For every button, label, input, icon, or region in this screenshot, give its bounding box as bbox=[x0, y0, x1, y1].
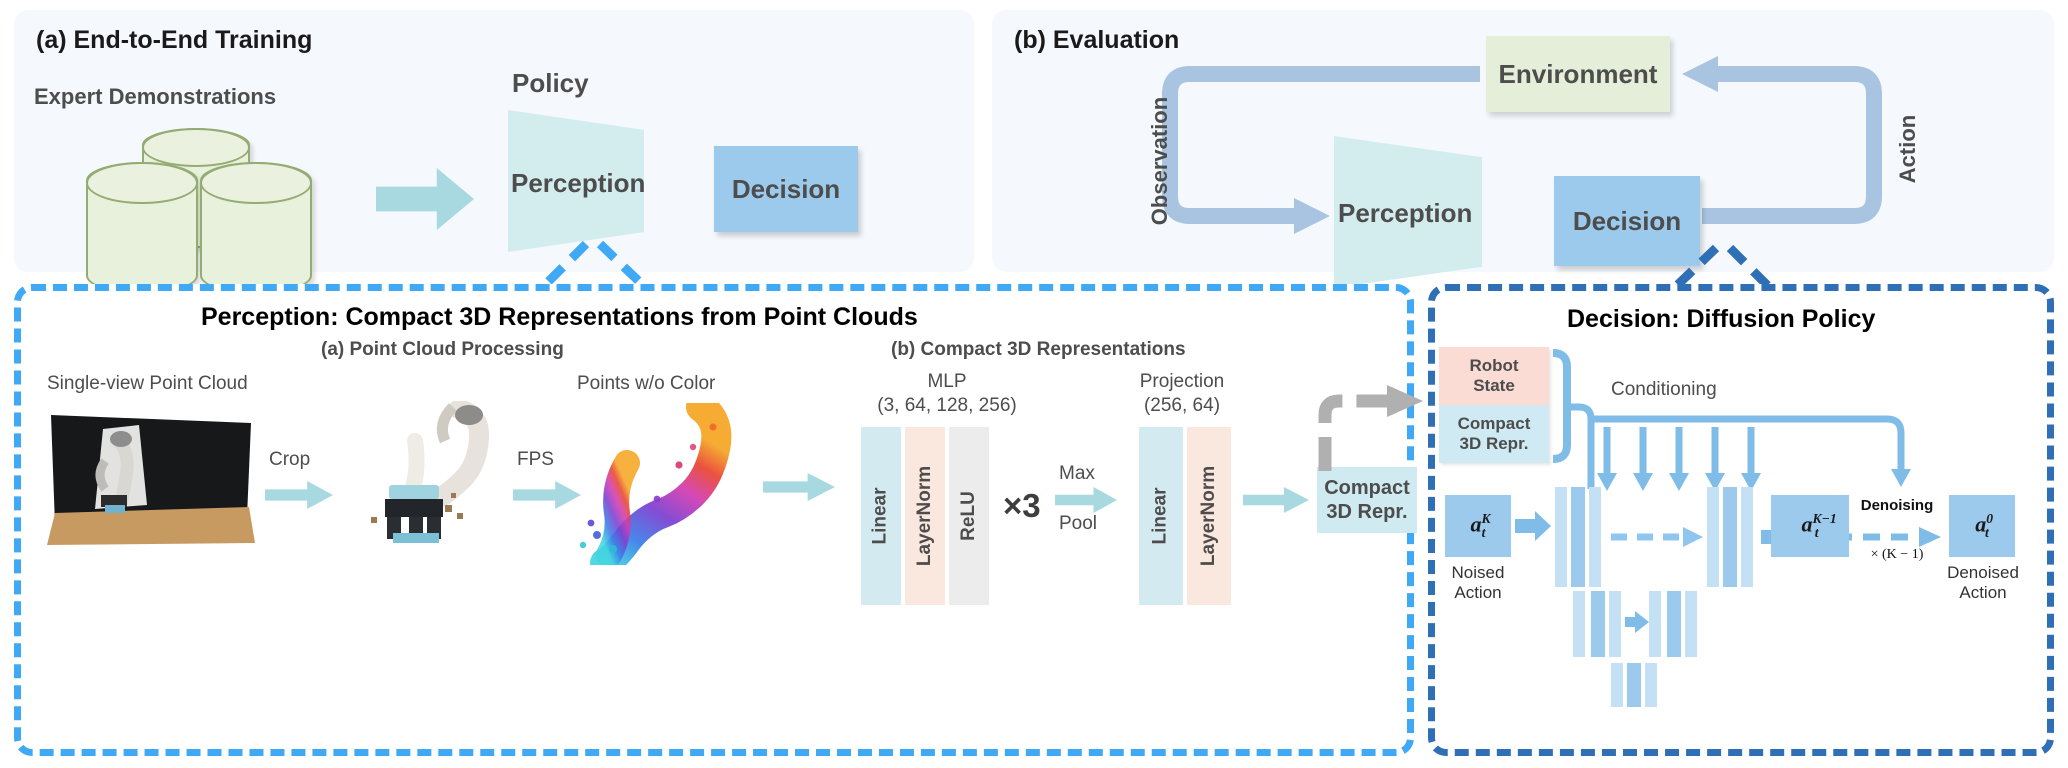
denoised-action-caption: Denoised Action bbox=[1935, 563, 2031, 604]
projection-title-label: Projection bbox=[1107, 371, 1257, 393]
fps-label: FPS bbox=[517, 449, 554, 471]
intermediate-action-symbol: aK−1t bbox=[1802, 511, 1819, 541]
mlp-dims-label: (3, 64, 128, 256) bbox=[857, 395, 1037, 417]
single-view-point-cloud-image bbox=[43, 409, 259, 547]
points-wo-color-label: Points w/o Color bbox=[577, 373, 715, 395]
crop-arrow bbox=[265, 481, 333, 509]
single-view-point-cloud-label: Single-view Point Cloud bbox=[47, 373, 248, 395]
diagram-root: (a) End-to-End Training Expert Demonstra… bbox=[0, 0, 2068, 768]
mlp-layer-layernorm: LayerNorm bbox=[905, 427, 945, 605]
projection-layer-layernorm-label: LayerNorm bbox=[1198, 466, 1220, 566]
mlp-input-arrow bbox=[763, 473, 835, 501]
maxpool-label-line2: Pool bbox=[1059, 513, 1097, 535]
colored-point-cloud-image bbox=[561, 403, 751, 565]
crop-label: Crop bbox=[269, 449, 310, 471]
projection-output-arrow bbox=[1243, 487, 1309, 513]
mlp-layer-linear-label: Linear bbox=[870, 487, 892, 544]
mlp-title-label: MLP bbox=[857, 371, 1037, 393]
denoising-steps-label: × (K − 1) bbox=[1851, 547, 1943, 563]
projection-layer-linear-label: Linear bbox=[1150, 487, 1172, 544]
denoised-action-symbol: a0t bbox=[1975, 511, 1989, 541]
mlp-layer-relu-label: ReLU bbox=[958, 491, 980, 541]
denoised-action-box: a0t bbox=[1949, 495, 2015, 557]
mlp-layer-layernorm-label: LayerNorm bbox=[914, 466, 936, 566]
denoising-label: Denoising bbox=[1851, 497, 1943, 514]
compact-3d-repr-line2: 3D Repr. bbox=[1326, 500, 1407, 524]
projection-layer-linear: Linear bbox=[1139, 427, 1183, 605]
panel-perception-detail: Perception: Compact 3D Representations f… bbox=[14, 284, 1414, 756]
projection-dims-label: (256, 64) bbox=[1107, 395, 1257, 417]
mlp-repeat-label: ×3 bbox=[1003, 487, 1041, 525]
panel-decision-detail: Decision: Diffusion Policy Robot State C… bbox=[1428, 284, 2054, 756]
mlp-layer-linear: Linear bbox=[861, 427, 901, 605]
perception-subtitle-a: (a) Point Cloud Processing bbox=[321, 339, 564, 361]
intermediate-action-box: aK−1t bbox=[1771, 495, 1849, 557]
projection-layer-layernorm: LayerNorm bbox=[1187, 427, 1231, 605]
maxpool-arrow bbox=[1055, 487, 1117, 513]
mlp-layer-relu: ReLU bbox=[949, 427, 989, 605]
perception-panel-title: Perception: Compact 3D Representations f… bbox=[201, 303, 918, 332]
maxpool-label-line1: Max bbox=[1059, 463, 1095, 485]
compact-repr-to-decision-arrow bbox=[1311, 381, 1441, 481]
perception-subtitle-b: (b) Compact 3D Representations bbox=[891, 339, 1186, 361]
cropped-point-cloud-image bbox=[341, 401, 509, 553]
